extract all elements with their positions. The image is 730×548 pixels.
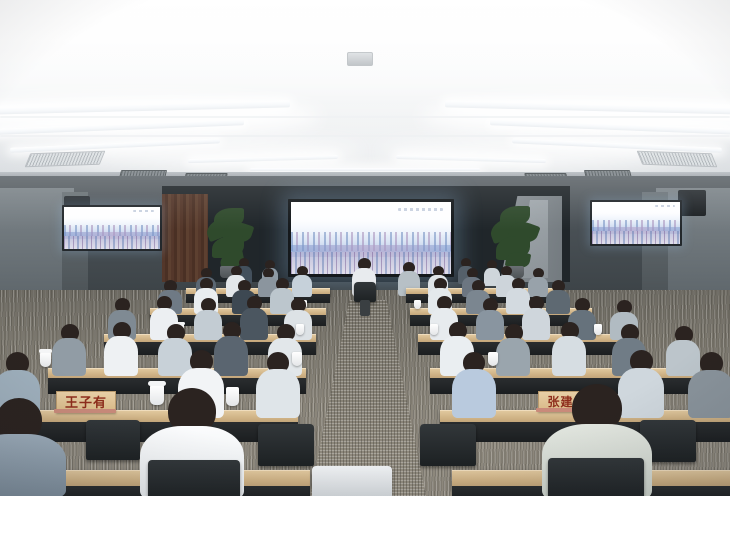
attendee-torso (256, 369, 300, 418)
chair (258, 424, 314, 466)
tea-cup (40, 352, 51, 367)
attendee-torso (0, 434, 66, 496)
right-display-content (592, 202, 680, 244)
attendee-foreground-far-left (0, 398, 66, 496)
ceiling-sensor-housing (347, 52, 373, 66)
attendee (528, 268, 548, 296)
ceiling-led-strip (250, 168, 480, 171)
tea-cup-lid (148, 381, 166, 386)
chair (148, 460, 240, 496)
tea-cup (414, 300, 421, 309)
chair-base (360, 300, 370, 316)
chair (312, 466, 392, 496)
right-display[interactable] (590, 200, 682, 246)
attendee-torso (52, 338, 86, 376)
display-watermark (398, 208, 443, 212)
attendee-torso (452, 369, 496, 418)
left-nameplate-text: 王子有 (65, 396, 107, 409)
ceiling-seam (0, 116, 730, 118)
ceiling-seam (0, 135, 730, 137)
page-whitespace (0, 496, 730, 548)
attendee (688, 352, 730, 418)
chair (548, 458, 644, 496)
chair (354, 282, 376, 302)
left-display[interactable] (62, 205, 162, 251)
hvac-vent (25, 151, 106, 168)
conference-room-photograph: 王子有 张建华 (0, 0, 730, 496)
attendee (552, 322, 586, 376)
attendee-torso (688, 370, 730, 418)
left-display-content (64, 207, 160, 249)
tea-cup (430, 324, 438, 335)
attendee-torso (496, 338, 530, 376)
display-sky (291, 202, 451, 235)
attendee (52, 324, 86, 376)
attendee (256, 352, 300, 418)
chair (420, 424, 476, 466)
tea-cup-lid (39, 349, 52, 353)
hvac-vent (637, 151, 718, 168)
display-watermark (133, 210, 154, 213)
attendee-torso (552, 336, 586, 376)
attendee (452, 352, 496, 418)
attendee (496, 324, 530, 376)
loudspeaker-icon (678, 190, 706, 216)
display-foreground-city (592, 231, 680, 244)
attendee-torso (292, 275, 312, 297)
tea-cup (594, 324, 602, 335)
display-watermark (655, 205, 674, 208)
screenshot-root: 王子有 张建华 (0, 0, 730, 548)
attendee (292, 266, 312, 296)
attendee-torso (528, 277, 548, 297)
chair (86, 420, 140, 460)
attendee-torso (104, 336, 138, 376)
display-foreground-city (64, 236, 160, 249)
attendee (104, 322, 138, 376)
